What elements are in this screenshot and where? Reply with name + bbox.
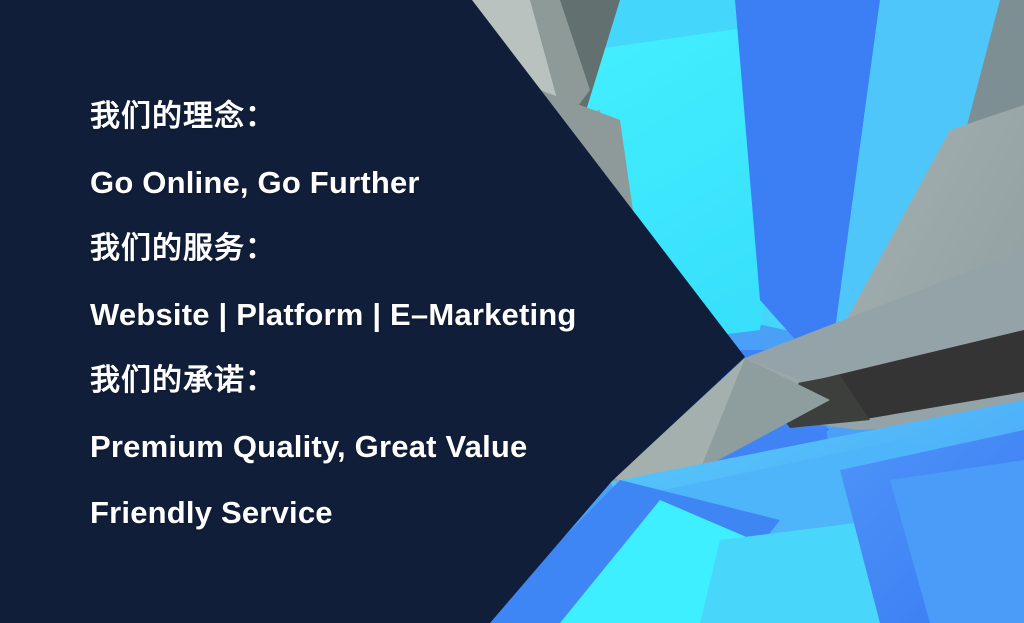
low-poly-background	[0, 0, 1024, 623]
marketing-banner: 我们的理念： Go Online, Go Further 我们的服务： Webs…	[0, 0, 1024, 623]
